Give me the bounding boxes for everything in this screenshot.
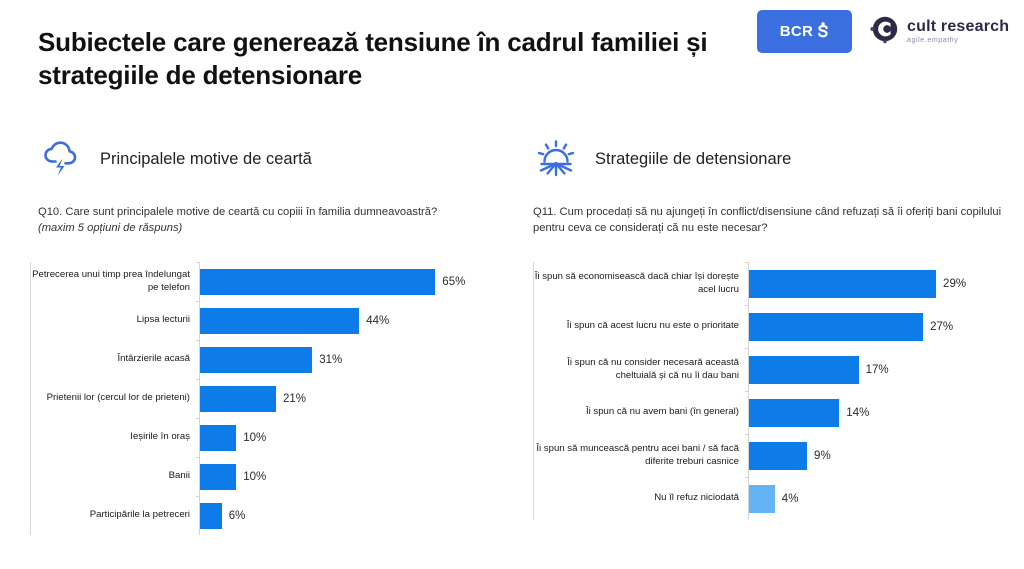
bar-track: 17%: [748, 348, 1013, 391]
bar-track: 27%: [748, 305, 1013, 348]
axis-tick: [196, 457, 200, 458]
bar: [200, 308, 359, 334]
axis-tick: [196, 301, 200, 302]
bcr-wordmark: BCR: [780, 23, 813, 40]
cult-tagline-text: agile.empathy: [907, 37, 1009, 44]
bar: [200, 347, 312, 373]
bar-value-label: 14%: [846, 407, 869, 419]
bar-value-label: 21%: [283, 393, 306, 405]
bar-category-label: Întârzierile acasă: [31, 353, 199, 366]
bar-track: 14%: [748, 391, 1013, 434]
bar-value-label: 29%: [943, 278, 966, 290]
chart-bar-row: Participările la petreceri6%: [31, 496, 500, 535]
bar-value-label: 4%: [782, 493, 799, 505]
bar-track: 10%: [199, 418, 500, 457]
bar: [749, 485, 775, 513]
bar: [749, 270, 936, 298]
axis-tick: [745, 262, 749, 263]
bar-category-label: Nu îl refuz niciodată: [534, 492, 748, 505]
bar: [749, 313, 923, 341]
bar: [749, 442, 807, 470]
axis-tick: [196, 262, 200, 263]
bar: [200, 269, 435, 295]
bar-category-label: Lipsa lecturii: [31, 314, 199, 327]
bar-track: 10%: [199, 457, 500, 496]
axis-tick: [745, 477, 749, 478]
bar-value-label: 6%: [229, 510, 246, 522]
bar-track: 4%: [748, 477, 1013, 520]
cloud-lightning-icon: [38, 136, 84, 182]
bar-track: 44%: [199, 301, 500, 340]
bar-category-label: Banii: [31, 470, 199, 483]
question-right: Q11. Cum procedați să nu ajungeți în con…: [533, 204, 1003, 236]
cult-wordmark: cult research agile.empathy: [907, 19, 1009, 44]
bar-category-label: Îi spun să muncească pentru acei bani / …: [534, 443, 748, 469]
panel-motive-ceara: Principalele motive de ceartă Q10. Care …: [38, 128, 508, 236]
panel-title-left: Principalele motive de ceartă: [100, 148, 312, 170]
panel-title-right: Strategiile de detensionare: [595, 148, 791, 170]
bar-value-label: 31%: [319, 354, 342, 366]
panel-strategii: Strategiile de detensionare Q11. Cum pro…: [533, 128, 1003, 236]
axis-tick: [196, 496, 200, 497]
axis-tick: [196, 418, 200, 419]
bar-track: 31%: [199, 340, 500, 379]
bar-category-label: Îi spun că nu consider necesară această …: [534, 357, 748, 383]
bar-category-label: Petrecerea unui timp prea îndelungat pe …: [31, 269, 199, 295]
chart-left-plot-area: Petrecerea unui timp prea îndelungat pe …: [30, 262, 500, 535]
chart-bar-row: Banii10%: [31, 457, 500, 496]
chart-bar-row: Nu îl refuz niciodată4%: [534, 477, 1013, 520]
bar-value-label: 44%: [366, 315, 389, 327]
question-right-text: Q11. Cum procedați să nu ajungeți în con…: [533, 204, 1003, 236]
bar-category-label: Îi spun să economisească dacă chiar își …: [534, 271, 748, 297]
bar: [200, 464, 236, 490]
chart-right-plot-area: Îi spun să economisească dacă chiar își …: [533, 262, 1013, 520]
bcr-savings-icon: [817, 22, 829, 41]
logo-group: BCR cult research agile.empathy: [757, 10, 1009, 53]
axis-tick: [745, 305, 749, 306]
bar-track: 6%: [199, 496, 500, 535]
axis-tick: [745, 391, 749, 392]
cult-research-logo: cult research agile.empathy: [870, 14, 1009, 49]
chart-bar-row: Îi spun să economisească dacă chiar își …: [534, 262, 1013, 305]
bar: [200, 425, 236, 451]
chart-bar-row: Îi spun că nu avem bani (în general)14%: [534, 391, 1013, 434]
panel-header-right: Strategiile de detensionare: [533, 128, 1003, 190]
bar: [200, 503, 222, 529]
question-left-note: (maxim 5 opțiuni de răspuns): [38, 220, 508, 236]
bar-track: 21%: [199, 379, 500, 418]
question-left-text: Q10. Care sunt principalele motive de ce…: [38, 204, 508, 220]
chart-bar-row: Petrecerea unui timp prea îndelungat pe …: [31, 262, 500, 301]
axis-tick: [745, 348, 749, 349]
bar-category-label: Prietenii lor (cercul lor de prieteni): [31, 392, 199, 405]
bar-track: 9%: [748, 434, 1013, 477]
cult-name-text: cult research: [907, 19, 1009, 35]
bcr-logo: BCR: [757, 10, 852, 53]
chart-bar-row: Îi spun că nu consider necesară această …: [534, 348, 1013, 391]
bar-category-label: Îi spun că nu avem bani (în general): [534, 406, 748, 419]
bar-track: 29%: [748, 262, 1013, 305]
bar-value-label: 10%: [243, 471, 266, 483]
sunrise-icon: [533, 136, 579, 182]
chart-bar-row: Îi spun să muncească pentru acei bani / …: [534, 434, 1013, 477]
chart-bar-row: Întârzierile acasă31%: [31, 340, 500, 379]
chart-strategii-detensionare: Îi spun să economisească dacă chiar își …: [533, 262, 1013, 520]
chart-bar-row: Ieșirile în oraș10%: [31, 418, 500, 457]
slide-root: BCR cult research agile.empathy: [0, 0, 1024, 569]
bar-value-label: 65%: [442, 276, 465, 288]
chart-principalele-motive: Petrecerea unui timp prea îndelungat pe …: [30, 262, 500, 535]
bar: [749, 399, 839, 427]
bar-track: 65%: [199, 262, 500, 301]
axis-tick: [196, 340, 200, 341]
bar-value-label: 9%: [814, 450, 831, 462]
cult-c-icon: [870, 14, 900, 49]
axis-tick: [196, 379, 200, 380]
bar: [749, 356, 859, 384]
bar: [200, 386, 276, 412]
chart-bar-row: Îi spun că acest lucru nu este o priorit…: [534, 305, 1013, 348]
bar-value-label: 17%: [866, 364, 889, 376]
bar-category-label: Îi spun că acest lucru nu este o priorit…: [534, 320, 748, 333]
chart-bar-row: Prietenii lor (cercul lor de prieteni)21…: [31, 379, 500, 418]
bar-category-label: Participările la petreceri: [31, 509, 199, 522]
question-left: Q10. Care sunt principalele motive de ce…: [38, 204, 508, 236]
panel-header-left: Principalele motive de ceartă: [38, 128, 508, 190]
page-title: Subiectele care generează tensiune în ca…: [38, 26, 738, 93]
axis-tick: [745, 434, 749, 435]
bar-value-label: 10%: [243, 432, 266, 444]
bar-value-label: 27%: [930, 321, 953, 333]
chart-bar-row: Lipsa lecturii44%: [31, 301, 500, 340]
bar-category-label: Ieșirile în oraș: [31, 431, 199, 444]
